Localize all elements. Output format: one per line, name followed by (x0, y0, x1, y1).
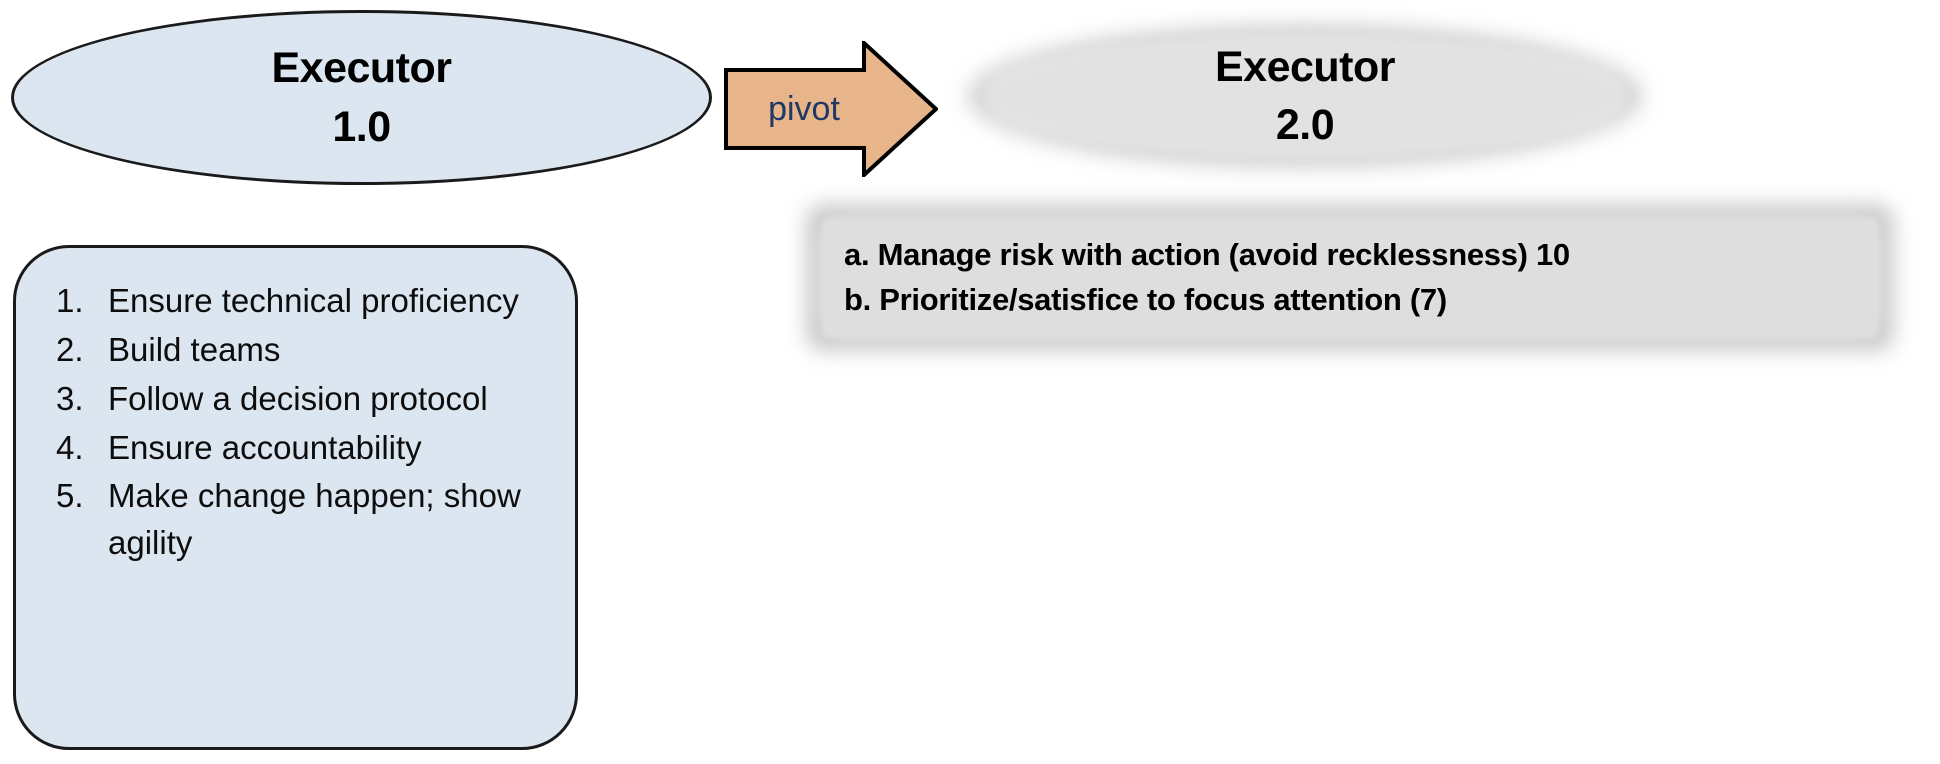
list-item: 4. Ensure accountability (42, 425, 549, 472)
executor-1-title: Executor (271, 39, 451, 97)
list-item: 1. Ensure technical proficiency (42, 278, 549, 325)
list-item-number: 4. (42, 425, 108, 472)
executor-2-title: Executor (1215, 38, 1395, 96)
executor-2-practices-text: a. Manage risk with action (avoid reckle… (790, 190, 1910, 365)
executor-2-text: Executor 2.0 (945, 6, 1665, 186)
list-item: a. Manage risk with action (avoid reckle… (844, 233, 1910, 278)
executor-1-practices-box: 1. Ensure technical proficiency 2. Build… (13, 245, 578, 750)
executor-1-ellipse: Executor 1.0 (11, 10, 712, 185)
list-item-label: Build teams (108, 327, 549, 374)
diagram-canvas: Executor 1.0 pivot Executor 2.0 1. Ensur… (0, 0, 1940, 764)
list-item-number: 2. (42, 327, 108, 374)
executor-2-ellipse: Executor 2.0 (945, 6, 1665, 186)
pivot-arrow-label: pivot (724, 41, 884, 177)
list-item: 5. Make change happen; show agility (42, 473, 549, 567)
list-item: b. Prioritize/satisfice to focus attenti… (844, 278, 1910, 323)
list-item-number: 5. (42, 473, 108, 520)
executor-2-version: 2.0 (1276, 96, 1334, 154)
list-item: 2. Build teams (42, 327, 549, 374)
list-item: 3. Follow a decision protocol (42, 376, 549, 423)
list-item-number: 1. (42, 278, 108, 325)
executor-1-version: 1.0 (332, 98, 390, 156)
executor-2-practices-box: a. Manage risk with action (avoid reckle… (790, 190, 1910, 365)
executor-1-practices-list: 1. Ensure technical proficiency 2. Build… (42, 278, 549, 567)
list-item-label: Ensure accountability (108, 425, 549, 472)
list-item-label: Make change happen; show agility (108, 473, 549, 567)
list-item-label: Follow a decision protocol (108, 376, 549, 423)
list-item-label: Ensure technical proficiency (108, 278, 549, 325)
list-item-number: 3. (42, 376, 108, 423)
